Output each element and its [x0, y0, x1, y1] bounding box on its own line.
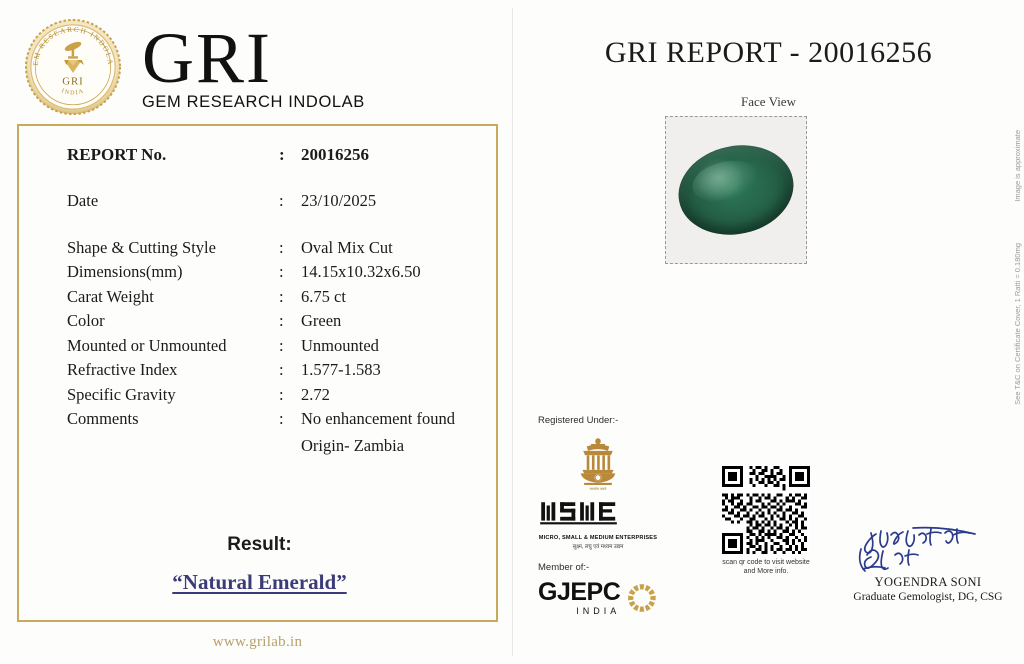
table-row: Color : Green	[67, 313, 487, 330]
signatory-name: YOGENDRA SONI	[848, 575, 1008, 590]
svg-text:GRI: GRI	[62, 76, 83, 88]
field-label: Specific Gravity	[67, 387, 279, 404]
field-separator: :	[279, 264, 301, 281]
msme-logo-icon	[538, 499, 646, 529]
field-separator: :	[279, 362, 301, 379]
field-label: Carat Weight	[67, 289, 279, 306]
msme-hindi-caption: सूक्ष्म, लघु एवं मध्यम उद्यम	[538, 542, 658, 550]
table-row: REPORT No. : 20016256	[67, 146, 487, 163]
signature-block: YOGENDRA SONI Graduate Gemologist, DG, C…	[848, 525, 1008, 603]
field-separator: :	[279, 240, 301, 257]
field-label: Shape & Cutting Style	[67, 240, 279, 257]
table-row: Mounted or Unmounted : Unmounted	[67, 338, 487, 355]
report-table-frame: REPORT No. : 20016256 Date : 23/10/2025 …	[17, 124, 498, 622]
gjepc-sub: INDIA	[538, 606, 620, 616]
page-title: GRI REPORT - 20016256	[513, 36, 1024, 70]
field-separator: :	[279, 411, 301, 428]
handwritten-signature-icon	[853, 525, 1003, 577]
table-row: Dimensions(mm) : 14.15x10.32x6.50	[67, 264, 487, 281]
field-label: Color	[67, 313, 279, 330]
brand-header: GEM RESEARCH INDOLAB INDIA	[24, 18, 494, 118]
table-row: Carat Weight : 6.75 ct	[67, 289, 487, 306]
gjepc-wordmark: GJEPC	[538, 580, 620, 605]
signatory-role: Graduate Gemologist, DG, CSG	[848, 591, 1008, 603]
result-label: Result:	[19, 534, 500, 556]
qr-caption-line1: scan qr code to visit website	[722, 559, 810, 566]
gem-photo-inner	[671, 122, 801, 258]
gjepc-circle-icon	[626, 575, 658, 621]
qr-block: scan qr code to visit website and More i…	[714, 466, 818, 577]
gem-highlight	[689, 155, 763, 207]
certificate-page: GEM RESEARCH INDOLAB INDIA	[0, 0, 1024, 664]
field-label: REPORT No.	[67, 146, 279, 163]
left-panel: GEM RESEARCH INDOLAB INDIA	[0, 0, 513, 664]
field-value: 2.72	[301, 387, 487, 404]
field-separator: :	[279, 313, 301, 330]
field-value: Green	[301, 313, 487, 330]
member-of-label: Member of:-	[538, 562, 658, 573]
field-label: Dimensions(mm)	[67, 264, 279, 281]
table-row: Specific Gravity : 2.72	[67, 387, 487, 404]
registrations-block: Registered Under:- स	[538, 415, 658, 621]
qr-caption-line2: and More info.	[744, 568, 789, 575]
field-label: Comments	[67, 411, 279, 428]
brand-name: GRI	[142, 24, 365, 92]
brand-tagline: GEM RESEARCH INDOLAB	[142, 93, 365, 112]
field-value: 23/10/2025	[301, 193, 487, 210]
side-note-image-approximate: Image is approximate	[1013, 130, 1022, 202]
table-row: Date : 23/10/2025	[67, 193, 487, 210]
ashoka-emblem-icon: सत्यमेव जयते	[572, 434, 624, 492]
field-label: Date	[67, 193, 279, 210]
brand-wordmark: GRI GEM RESEARCH INDOLAB	[142, 24, 365, 112]
table-row: Comments : No enhancement found	[67, 411, 487, 428]
gri-seal-icon: GEM RESEARCH INDOLAB INDIA	[24, 18, 122, 116]
field-value: 14.15x10.32x6.50	[301, 264, 487, 281]
qr-code-icon[interactable]	[722, 466, 810, 554]
field-label: Mounted or Unmounted	[67, 338, 279, 355]
gjepc-logo: GJEPC INDIA	[538, 575, 658, 621]
field-separator: :	[279, 193, 301, 210]
field-value: 20016256	[301, 146, 487, 163]
field-separator: :	[279, 146, 301, 163]
field-value: 6.75 ct	[301, 289, 487, 306]
emerald-stone-image	[671, 135, 801, 245]
comments-continuation-row: Origin- Zambia	[67, 436, 487, 456]
report-fields: REPORT No. : 20016256 Date : 23/10/2025 …	[67, 146, 487, 456]
comments-line-2: Origin- Zambia	[301, 436, 404, 456]
svg-text:सत्यमेव जयते: सत्यमेव जयते	[590, 486, 608, 491]
result-section: Result: “Natural Emerald”	[19, 534, 500, 595]
side-note-terms: See T&C on Certificate Cover, 1 Ratti = …	[1013, 243, 1022, 405]
table-row: Refractive Index : 1.577-1.583	[67, 362, 487, 379]
field-separator: :	[279, 289, 301, 306]
table-row: Shape & Cutting Style : Oval Mix Cut	[67, 240, 487, 257]
result-value: “Natural Emerald”	[19, 570, 500, 595]
registered-under-label: Registered Under:-	[538, 415, 658, 426]
qr-caption: scan qr code to visit website and More i…	[714, 558, 818, 577]
field-separator: :	[279, 338, 301, 355]
field-value: Oval Mix Cut	[301, 240, 487, 257]
footer-website[interactable]: www.grilab.in	[17, 634, 498, 651]
face-view-label: Face View	[513, 94, 1024, 110]
field-value: Unmounted	[301, 338, 487, 355]
field-value: 1.577-1.583	[301, 362, 487, 379]
field-value: No enhancement found	[301, 411, 487, 428]
field-label: Refractive Index	[67, 362, 279, 379]
gem-photo	[665, 116, 807, 264]
msme-caption: MICRO, SMALL & MEDIUM ENTERPRISES	[538, 535, 658, 541]
field-separator: :	[279, 387, 301, 404]
